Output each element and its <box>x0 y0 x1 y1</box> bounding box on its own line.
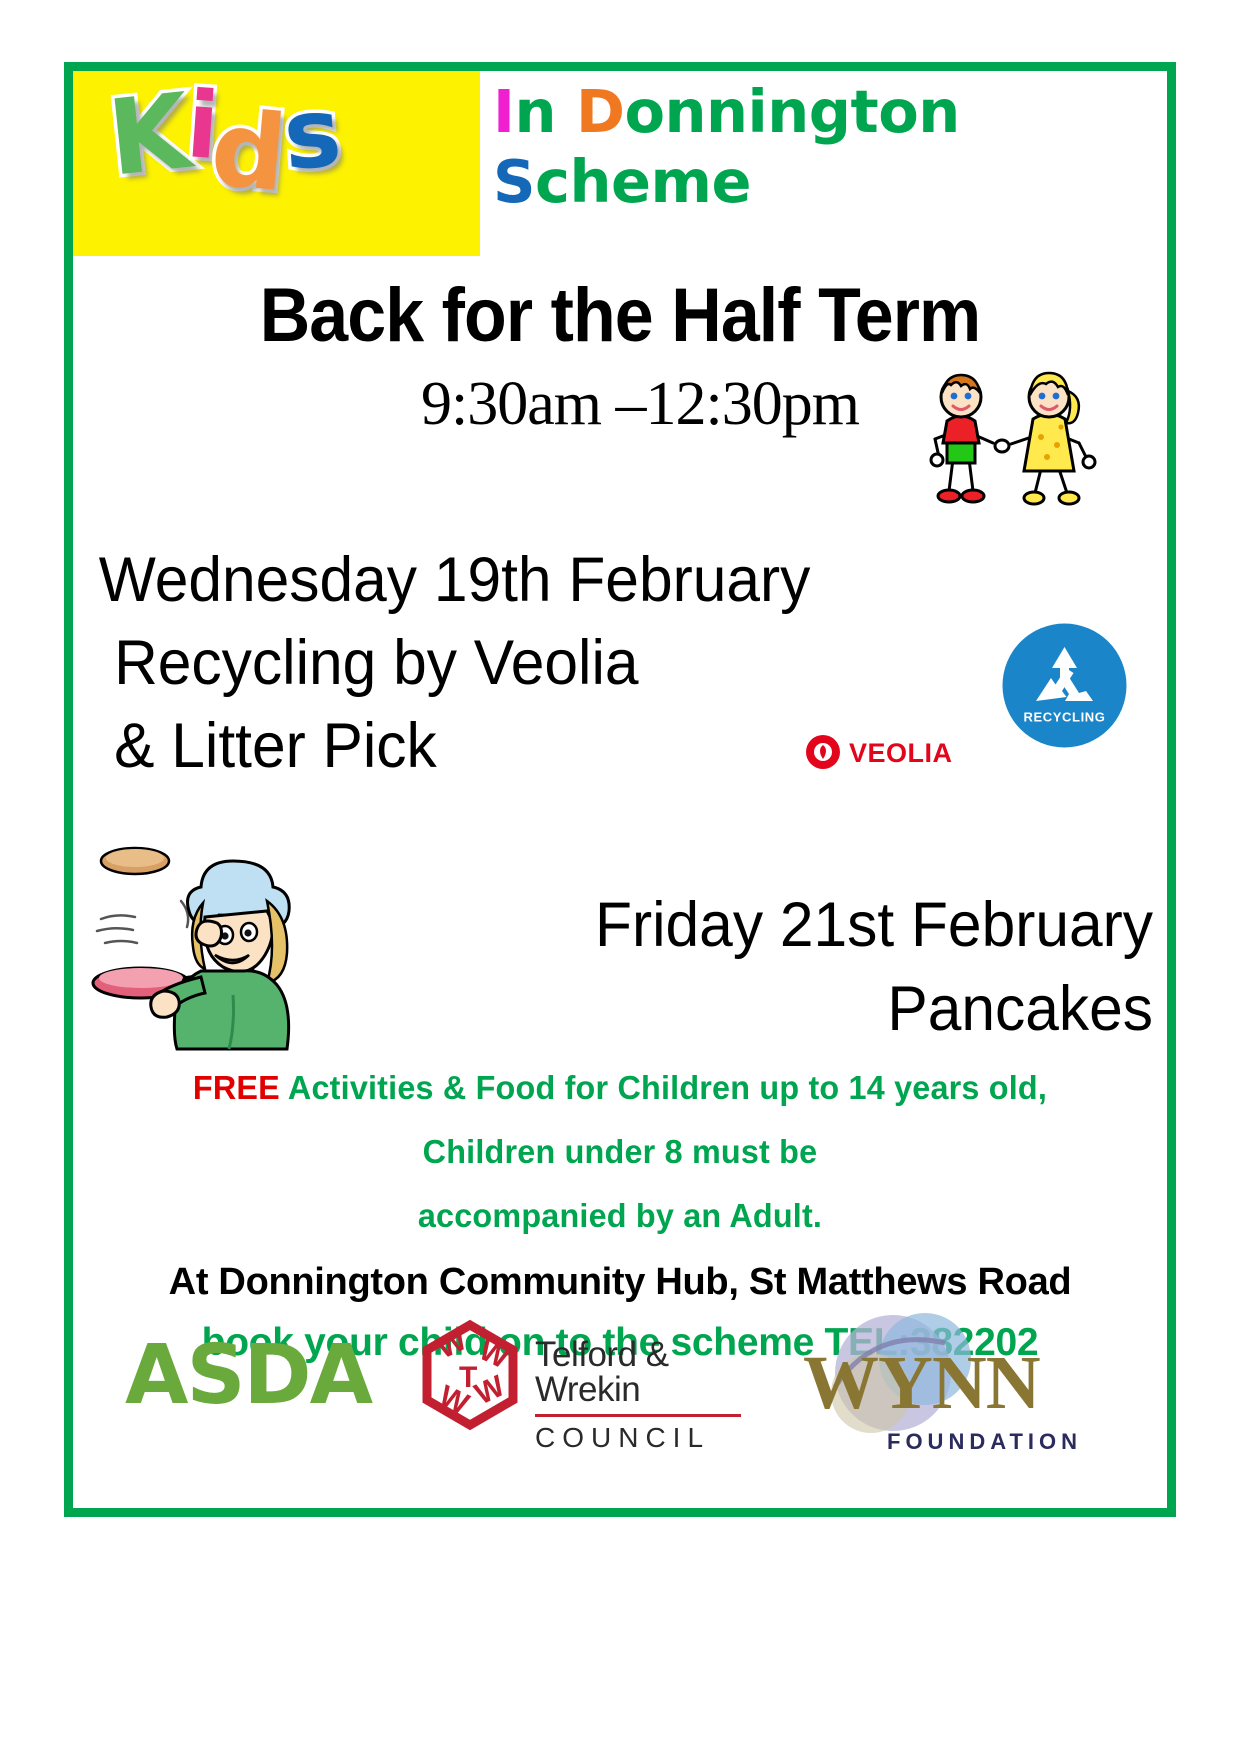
scheme-title-n: n <box>514 77 576 146</box>
wynn-foundation-label: FOUNDATION <box>887 1429 1082 1455</box>
scheme-title-cheme: cheme <box>535 147 751 216</box>
telford-wrekin-divider <box>535 1414 741 1417</box>
free-label: FREE <box>193 1069 280 1106</box>
friday-date: Friday 21st February <box>481 883 1153 967</box>
poster-header: Kids In Donnington Scheme <box>73 71 1167 266</box>
children-holding-hands-icon <box>901 351 1111 511</box>
wednesday-activity-extra: & Litter Pick <box>93 705 890 788</box>
footer-line-3: accompanied by an Adult. <box>84 1199 1156 1232</box>
scheme-title: In Donnington Scheme <box>493 77 1163 216</box>
telford-wrekin-council-logo: W W W W T Telford & Wrekin COUNCIL <box>415 1317 745 1437</box>
veolia-wordmark: VEOLIA <box>849 738 953 768</box>
scheme-title-letter-i: I <box>493 77 514 146</box>
wednesday-date: Wednesday 19th February <box>93 539 890 622</box>
poster-container: Kids In Donnington Scheme Back for the H… <box>64 62 1176 1517</box>
telford-wrekin-wordmark: Telford & Wrekin COUNCIL <box>535 1337 745 1452</box>
kids-letter-s: s <box>280 84 340 183</box>
wynn-foundation-logo: WYNN FOUNDATION <box>775 1307 1105 1472</box>
asda-logo: ASDA <box>125 1335 371 1417</box>
pancake-chef-icon <box>83 831 348 1051</box>
veolia-logo: VEOLIA <box>802 729 982 775</box>
footer-line-2: Children under 8 must be <box>84 1135 1156 1168</box>
wednesday-activity: Recycling by Veolia <box>93 622 890 705</box>
telford-wrekin-council-label: COUNCIL <box>535 1424 745 1452</box>
friday-block: Friday 21st February Pancakes <box>481 883 1153 1052</box>
footer-line-1: FREE Activities & Food for Children up t… <box>84 1071 1156 1104</box>
kids-letter-k: K <box>104 79 191 190</box>
scheme-title-letter-d: D <box>576 77 624 146</box>
telford-wrekin-name: Telford & Wrekin <box>535 1337 745 1407</box>
svg-text:T: T <box>459 1361 477 1394</box>
telford-wrekin-emblem-icon: W W W W T <box>415 1317 525 1437</box>
scheme-title-line-2: Scheme <box>493 147 1163 217</box>
headline-text: Back for the Half Term <box>117 272 1123 359</box>
scheme-title-line-1: In Donnington <box>493 77 1163 147</box>
sponsor-logos-row: ASDA W W W W T Telford & Wrekin COUNCIL <box>95 1307 1145 1492</box>
footer-venue: At Donnington Community Hub, St Matthews… <box>73 1263 1167 1301</box>
wednesday-block: Wednesday 19th February Recycling by Veo… <box>93 539 890 788</box>
footer-line-1-rest: Activities & Food for Children up to 14 … <box>280 1069 1047 1106</box>
friday-activity: Pancakes <box>481 967 1153 1051</box>
kids-logo-word: Kids <box>109 83 337 187</box>
scheme-title-letter-s: S <box>493 147 535 216</box>
kids-logo-badge: Kids <box>73 71 480 256</box>
kids-letter-d: d <box>207 96 286 206</box>
scheme-title-onnington: onnington <box>624 77 959 146</box>
recycling-icon: RECYCLING <box>1002 623 1127 748</box>
recycling-badge-label: RECYCLING <box>1024 710 1106 725</box>
wynn-wordmark: WYNN <box>803 1345 1040 1421</box>
